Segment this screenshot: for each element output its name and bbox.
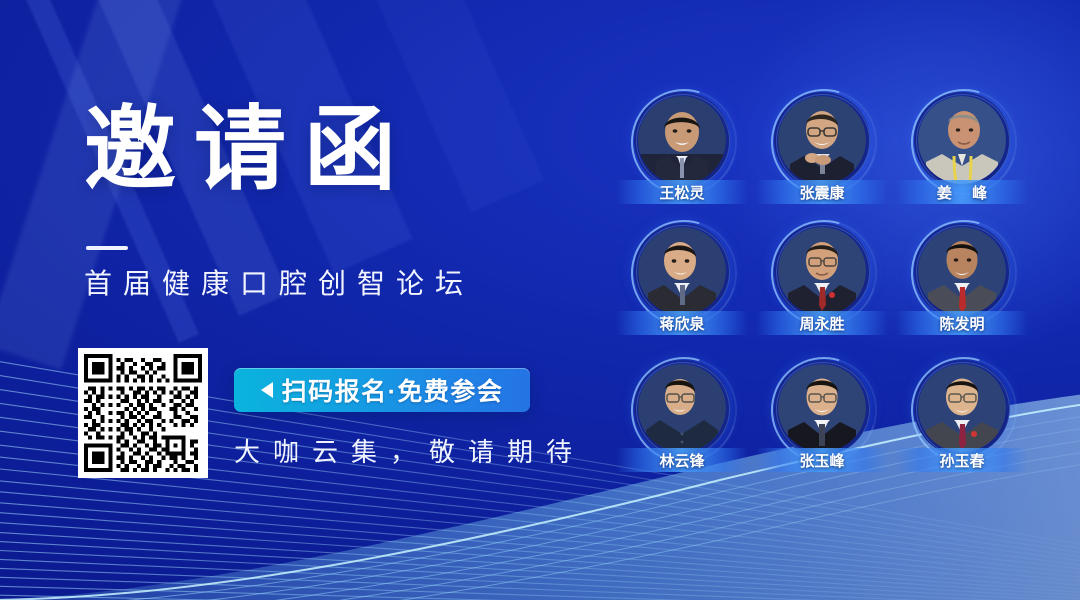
- speaker-name-plate: 孙玉春: [896, 448, 1028, 472]
- title-divider: [86, 246, 128, 250]
- speaker-name-plate: 王松灵: [616, 180, 748, 204]
- speaker-name-plate: 张玉峰: [756, 448, 888, 472]
- scan-register-button[interactable]: 扫码报名·免费参会: [234, 368, 530, 412]
- speaker-name: 王松灵: [659, 182, 704, 203]
- tagline: 大咖云集，敬请期待: [234, 432, 585, 469]
- avatar: [778, 227, 866, 315]
- avatar: [778, 364, 866, 452]
- speaker-row: 林云锋 张玉峰: [612, 360, 1032, 480]
- speaker-name-plate: 周永胜: [756, 311, 888, 335]
- scan-register-label: 扫码报名·免费参会: [282, 372, 504, 408]
- speaker-name-plate: 林云锋: [616, 448, 748, 472]
- speaker-name-plate: 姜 峰: [896, 180, 1028, 204]
- speaker-name: 蒋欣泉: [659, 313, 704, 334]
- speaker-name: 林云锋: [659, 450, 704, 471]
- speaker-card[interactable]: 张震康: [752, 92, 892, 224]
- speaker-card[interactable]: 陈发明: [892, 223, 1032, 355]
- speaker-grid: 王松灵: [612, 92, 1032, 512]
- avatar: [918, 364, 1006, 452]
- speaker-card[interactable]: 蒋欣泉: [612, 223, 752, 355]
- avatar: [918, 96, 1006, 184]
- speaker-card[interactable]: 姜 峰: [892, 92, 1032, 224]
- speaker-card[interactable]: 张玉峰: [752, 360, 892, 492]
- event-subtitle: 首届健康口腔创智论坛: [84, 270, 474, 298]
- speaker-name-plate: 蒋欣泉: [616, 311, 748, 335]
- speaker-card[interactable]: 王松灵: [612, 92, 752, 224]
- speaker-name-plate: 陈发明: [896, 311, 1028, 335]
- speaker-name: 姜 峰: [929, 182, 995, 203]
- qr-code[interactable]: [78, 348, 208, 478]
- invitation-poster: 邀请函 首届健康口腔创智论坛: [0, 0, 1080, 600]
- triangle-left-icon: [261, 382, 273, 398]
- left-content: 邀请函 首届健康口腔创智论坛: [0, 0, 600, 600]
- avatar: [778, 96, 866, 184]
- avatar: [638, 227, 726, 315]
- avatar: [918, 227, 1006, 315]
- qr-code-image: [84, 354, 202, 472]
- speaker-row: 王松灵: [612, 92, 1032, 212]
- speaker-name-plate: 张震康: [756, 180, 888, 204]
- page-title: 邀请函: [84, 104, 414, 196]
- speaker-name: 陈发明: [939, 313, 984, 334]
- speaker-row: 蒋欣泉: [612, 223, 1032, 343]
- speaker-card[interactable]: 林云锋: [612, 360, 752, 492]
- speaker-name: 张玉峰: [799, 450, 844, 471]
- speaker-card[interactable]: 孙玉春: [892, 360, 1032, 492]
- avatar: [638, 364, 726, 452]
- speaker-name: 孙玉春: [939, 450, 984, 471]
- speaker-name: 周永胜: [799, 313, 844, 334]
- avatar: [638, 96, 726, 184]
- speaker-name: 张震康: [799, 182, 844, 203]
- speaker-card[interactable]: 周永胜: [752, 223, 892, 355]
